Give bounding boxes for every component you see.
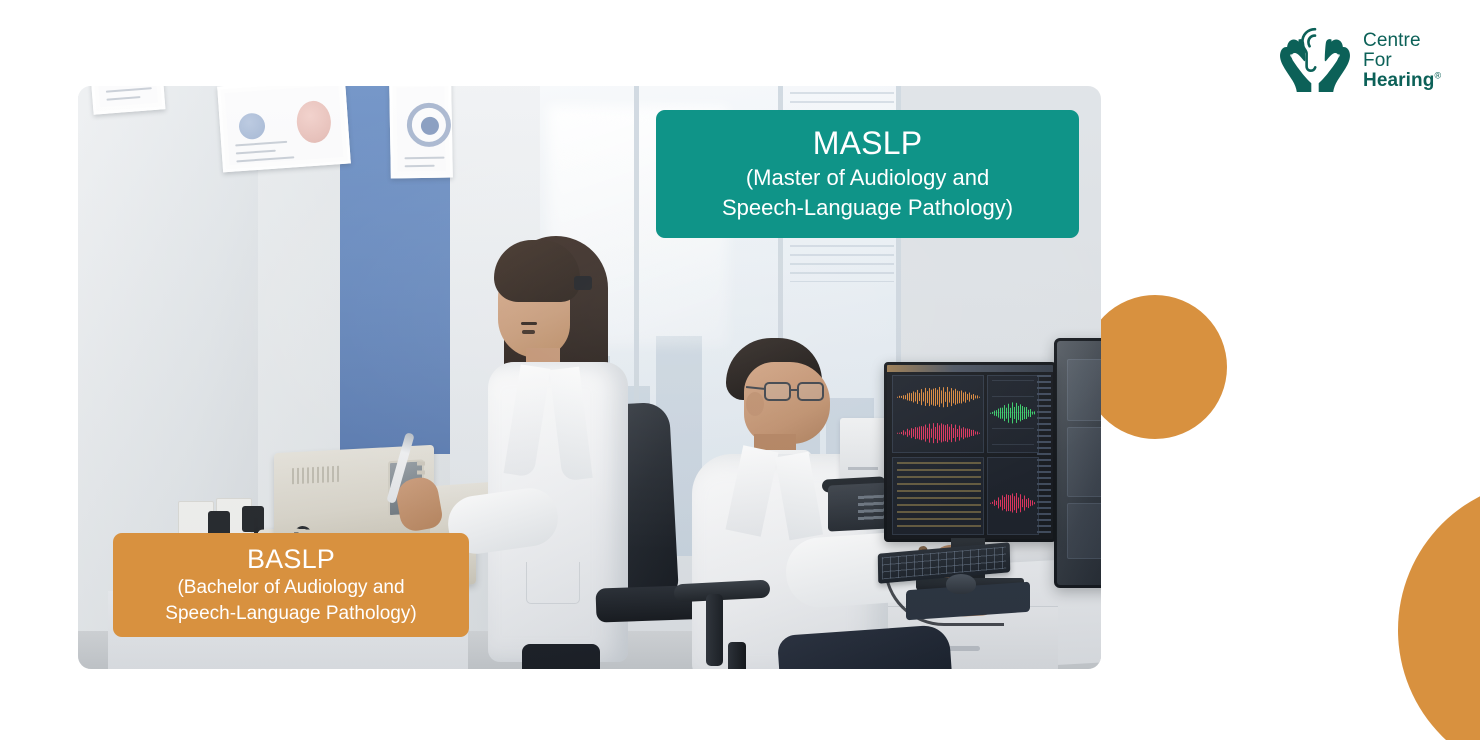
eyebrow [521, 322, 537, 325]
screen-panel-green [987, 375, 1039, 453]
hands-cupping-ear-icon [1277, 26, 1353, 96]
waveform-monitor [884, 362, 1056, 542]
brand-wordmark: Centre For Hearing® [1363, 31, 1441, 90]
badge-maslp-abbreviation: MASLP [813, 126, 922, 162]
hair-front [494, 240, 580, 302]
screen-glare [1057, 341, 1101, 585]
certificate-paper [98, 86, 158, 107]
waveform-green [990, 402, 1036, 424]
framed-certificate [217, 86, 351, 172]
bridge [791, 389, 798, 391]
trousers [522, 644, 600, 669]
lens [797, 382, 824, 401]
anatomy-diagram [295, 100, 332, 144]
vent-grille [292, 466, 342, 485]
orange-circle-small [1083, 295, 1227, 439]
desktop-printer [840, 418, 888, 480]
waveform-orange [897, 386, 981, 408]
eye [522, 330, 535, 334]
lens [764, 382, 791, 401]
brand-line-2: For [1363, 51, 1441, 71]
logo-mark [238, 112, 266, 140]
poster-canvas: MASLP (Master of Audiology and Speech-La… [0, 0, 1480, 740]
brand-line-3-text: Hearing [1363, 70, 1434, 91]
screen-panel-data [892, 457, 984, 535]
desk-phone [828, 482, 890, 531]
ear [746, 392, 764, 416]
badge-maslp: MASLP (Master of Audiology and Speech-La… [656, 110, 1079, 238]
curved-monitor [1054, 338, 1101, 588]
brand-line-3: Hearing® [1363, 71, 1441, 91]
mouse [946, 574, 976, 594]
waveform-red [990, 492, 1036, 514]
badge-baslp-expansion-line1: (Bachelor of Audiology and [177, 576, 404, 600]
screen-toolbar [887, 365, 1053, 372]
screen-panel-waveform-bottom [987, 457, 1039, 535]
framed-certificate [389, 86, 453, 179]
badge-baslp: BASLP (Bachelor of Audiology and Speech-… [113, 533, 469, 637]
registered-trademark-icon: ® [1434, 71, 1441, 81]
data-table [897, 462, 981, 532]
hair-clip [574, 276, 592, 290]
certificate-line [236, 150, 276, 155]
badge-baslp-abbreviation: BASLP [247, 544, 335, 574]
certificate-line [235, 141, 287, 147]
certificate-line [404, 157, 444, 160]
screen-panel-waveforms [892, 375, 984, 453]
waveform-red [897, 422, 981, 444]
chair-gas-cylinder [728, 642, 746, 669]
eyeglasses [764, 382, 826, 402]
brand-logo[interactable]: Centre For Hearing® [1277, 26, 1441, 96]
coat-pocket [526, 562, 580, 604]
badge-maslp-expansion-line2: Speech-Language Pathology) [722, 194, 1013, 222]
screen-sidebar [1037, 375, 1051, 535]
badge-maslp-expansion-line1: (Master of Audiology and [746, 164, 989, 192]
chair-armrest-post [706, 594, 723, 666]
certificate-paper [225, 86, 344, 165]
certificate-line [236, 156, 294, 162]
orange-circle-large [1398, 480, 1480, 740]
brand-line-1: Centre [1363, 31, 1441, 51]
ear-diagram [407, 102, 452, 147]
certificate-line [405, 165, 435, 168]
certificate-paper [396, 87, 445, 172]
certificate-line [106, 87, 152, 93]
badge-baslp-expansion-line2: Speech-Language Pathology) [165, 602, 416, 626]
certificate-line [106, 96, 140, 101]
